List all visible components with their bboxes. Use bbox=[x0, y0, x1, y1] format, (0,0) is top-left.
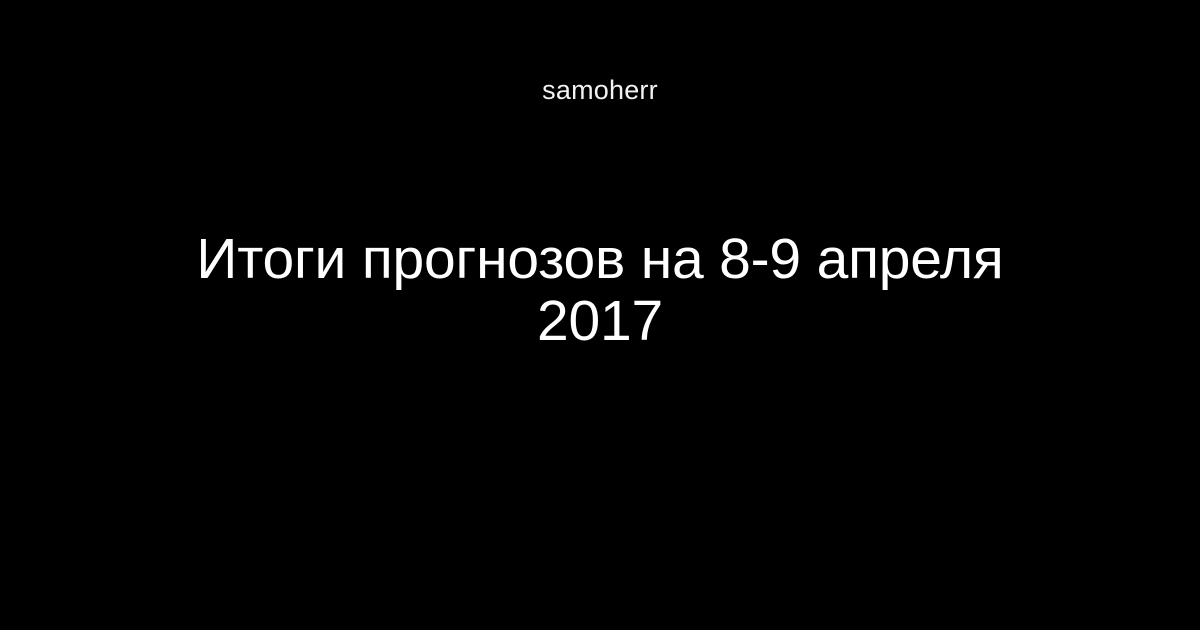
title-block: Итоги прогнозов на 8-9 апреля 2017 bbox=[160, 228, 1040, 352]
page-title: Итоги прогнозов на 8-9 апреля 2017 bbox=[160, 228, 1040, 352]
author-byline: samoherr bbox=[0, 74, 1200, 106]
preview-card: samoherr Итоги прогнозов на 8-9 апреля 2… bbox=[0, 0, 1200, 630]
